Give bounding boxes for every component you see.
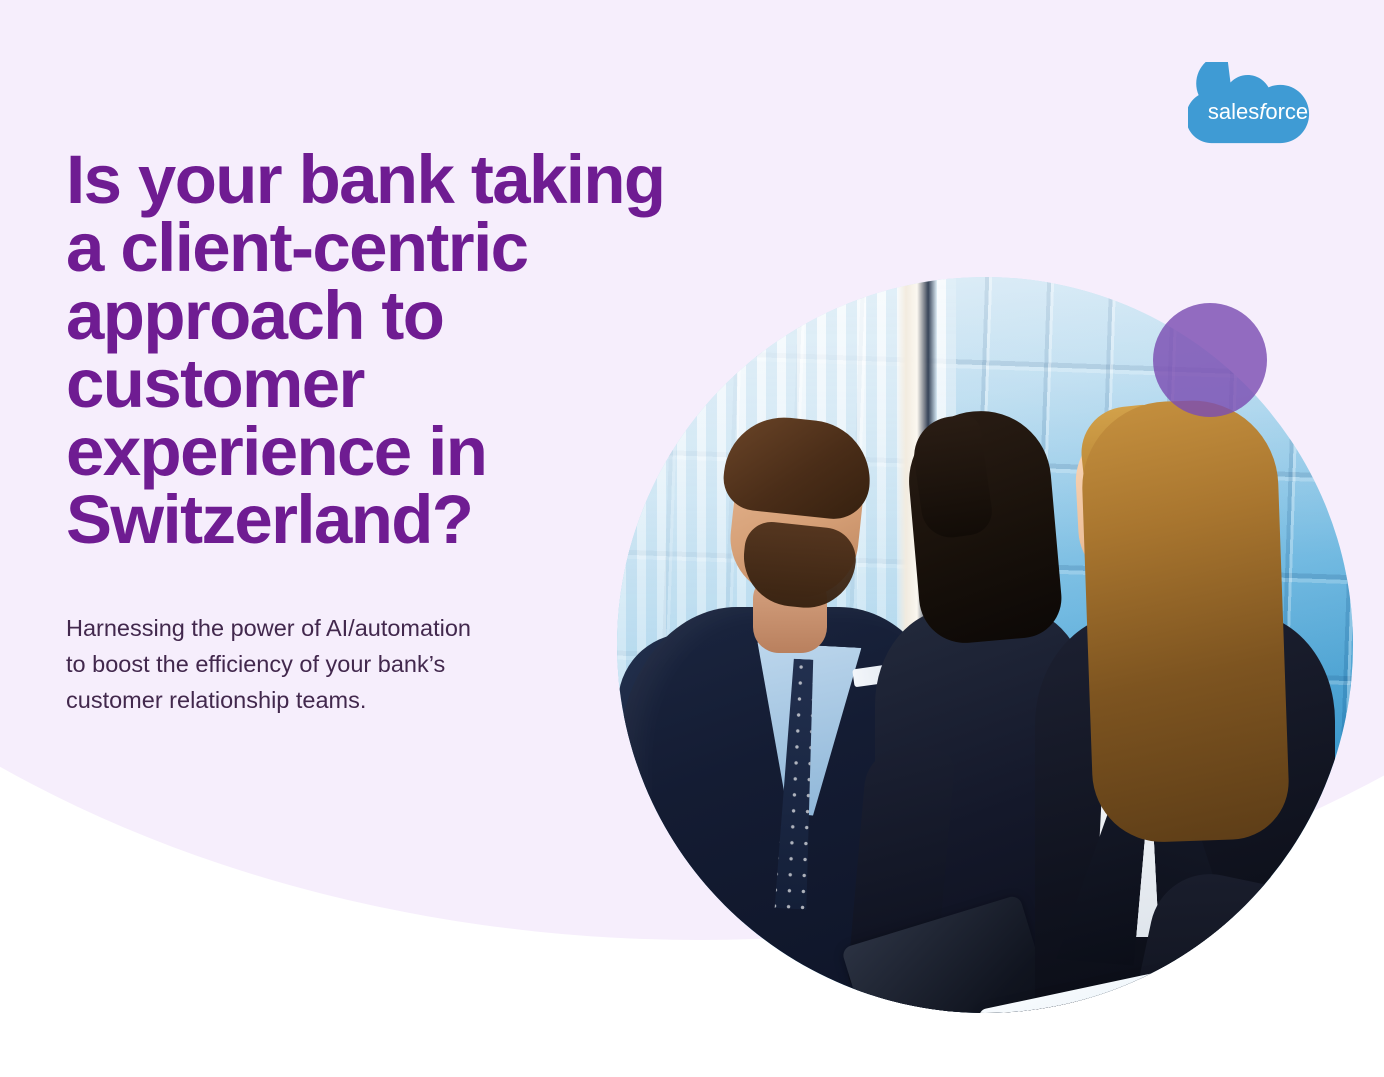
headline-line-4: customer <box>66 350 786 418</box>
person-woman-blonde-hair <box>1079 398 1290 845</box>
headline-line-3: approach to <box>66 282 786 350</box>
headline-line-1: Is your bank taking <box>66 146 786 214</box>
page-subtitle: Harnessing the power of AI/automation to… <box>66 610 566 719</box>
subhead-line-3: customer relationship teams. <box>66 682 566 718</box>
subhead-line-2: to boost the efficiency of your bank’s <box>66 646 566 682</box>
salesforce-logo[interactable]: salesforce <box>1188 62 1328 160</box>
headline-line-5: experience in <box>66 418 786 486</box>
hero-text-block: Is your bank taking a client-centric app… <box>66 146 786 718</box>
subhead-line-1: Harnessing the power of AI/automation <box>66 610 566 646</box>
salesforce-wordmark: salesforce <box>1208 99 1308 124</box>
cover-page: salesforce Is your bank taking a client-… <box>0 0 1384 1077</box>
headline-line-6: Switzerland? <box>66 486 786 554</box>
purple-accent-circle <box>1153 303 1267 417</box>
page-title: Is your bank taking a client-centric app… <box>66 146 786 554</box>
headline-line-2: a client-centric <box>66 214 786 282</box>
